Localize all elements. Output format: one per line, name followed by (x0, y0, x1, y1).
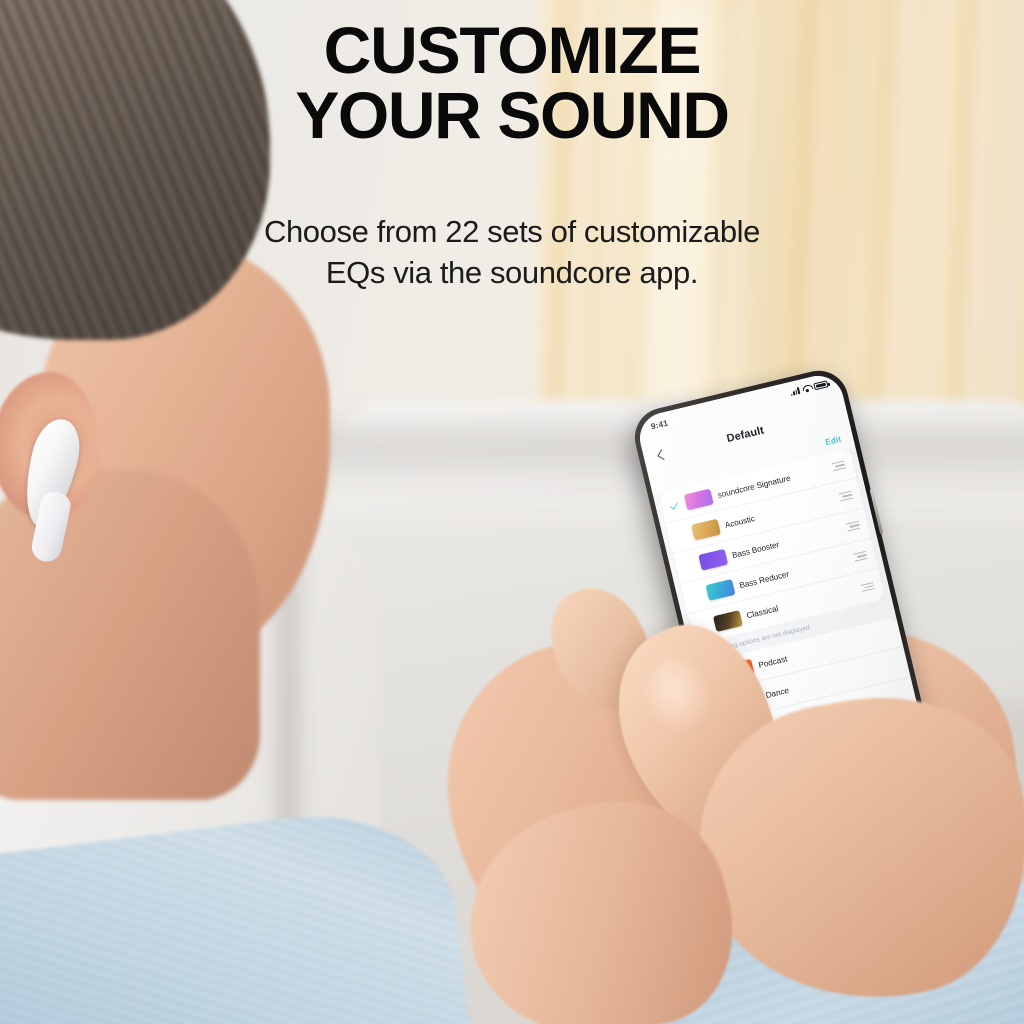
status-icons (789, 379, 828, 396)
eq-preset-swatch (732, 689, 762, 711)
page-title: Default (726, 425, 766, 446)
edit-button[interactable]: Edit (824, 434, 842, 447)
drag-handle-icon[interactable] (853, 551, 867, 562)
eq-preset-swatch (761, 809, 791, 831)
checkmark-placeholder (745, 820, 758, 833)
checkmark-icon (668, 499, 681, 512)
cellular-signal-icon (790, 387, 801, 396)
eq-preset-swatch (698, 549, 728, 571)
checkmark-placeholder (738, 789, 751, 802)
checkmark-placeholder (697, 620, 710, 633)
drag-handle-icon[interactable] (846, 521, 860, 532)
headline: CUSTOMIZE YOUR SOUND (0, 18, 1024, 149)
back-chevron-icon[interactable] (654, 448, 668, 462)
drag-handle-icon[interactable] (861, 582, 875, 593)
checkmark-placeholder (730, 759, 743, 772)
eq-preset-swatch (691, 519, 721, 541)
wifi-icon (802, 384, 812, 393)
checkmark-placeholder (716, 699, 729, 712)
eq-preset-swatch (746, 749, 776, 771)
eq-preset-swatch (705, 579, 735, 601)
hidden-presets-card: PodcastDanceDeepElectronicFlatHip-hopJaz… (694, 617, 947, 877)
eq-preset-swatch (725, 659, 755, 681)
headline-line-1: CUSTOMIZE (0, 18, 1024, 83)
subheadline: Choose from 22 sets of customizable EQs … (0, 212, 1024, 294)
eq-preset-swatch (739, 719, 769, 741)
eq-preset-swatch (713, 610, 743, 632)
checkmark-placeholder (752, 850, 765, 863)
subheadline-line-2: EQs via the soundcore app. (0, 253, 1024, 294)
checkmark-placeholder (682, 559, 695, 572)
eq-preset-swatch (754, 779, 784, 801)
drag-handle-icon[interactable] (839, 491, 853, 502)
checkmark-placeholder (723, 729, 736, 742)
headline-line-2: YOUR SOUND (0, 83, 1024, 148)
checkmark-placeholder (675, 529, 688, 542)
eq-preset-swatch (768, 840, 798, 862)
eq-preset-swatch (684, 489, 714, 511)
status-time: 9:41 (650, 418, 669, 432)
subheadline-line-1: Choose from 22 sets of customizable (0, 212, 1024, 253)
checkmark-placeholder (690, 589, 703, 602)
battery-icon (813, 380, 828, 390)
checkmark-placeholder (709, 669, 722, 682)
drag-handle-icon[interactable] (832, 460, 846, 471)
